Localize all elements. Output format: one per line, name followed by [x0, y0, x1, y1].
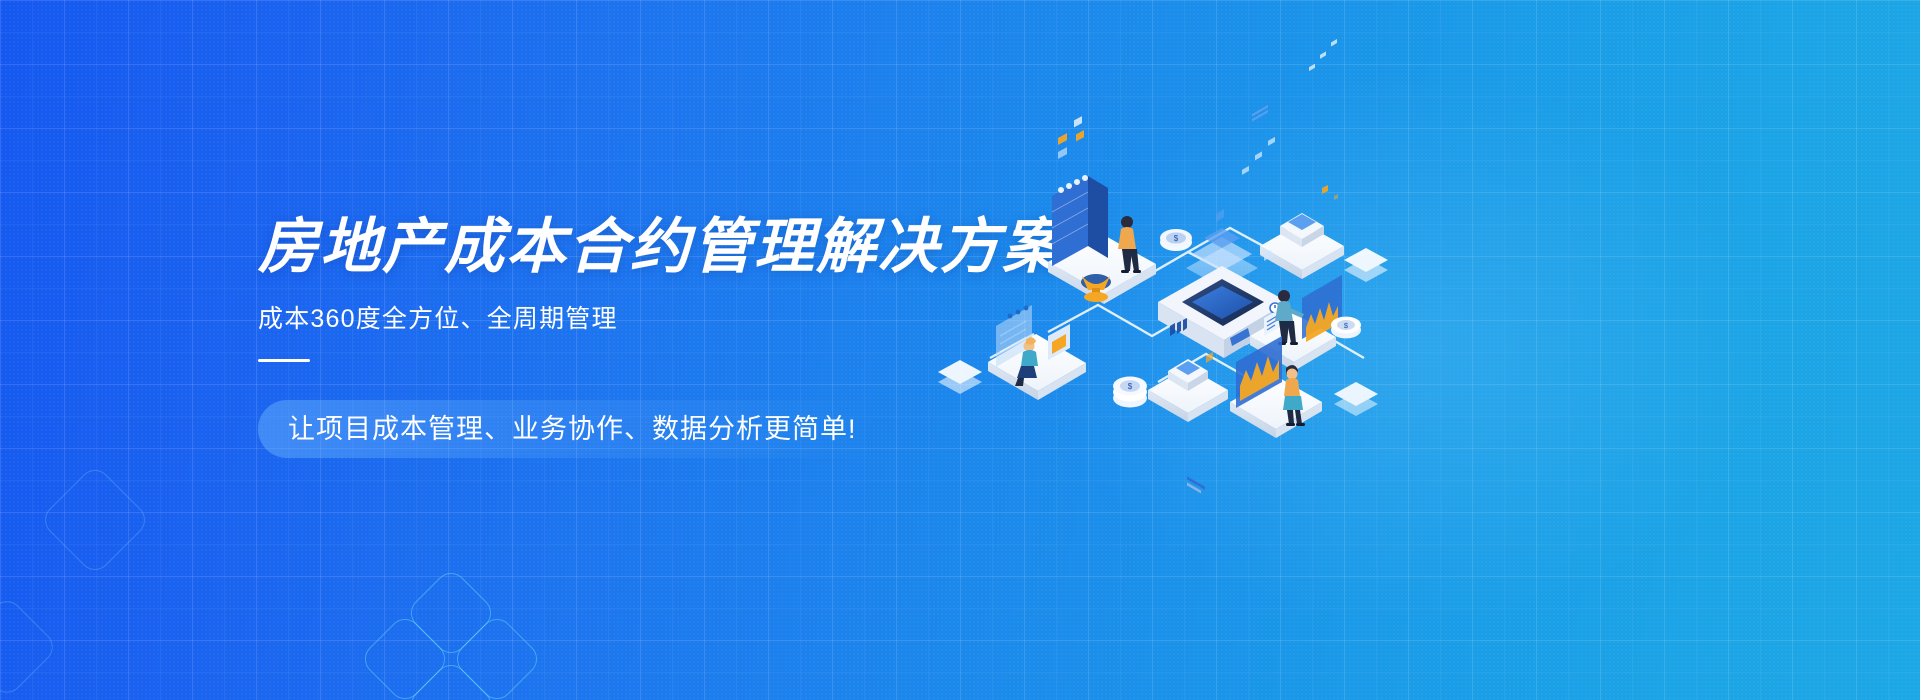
calendar-board — [1052, 116, 1108, 266]
decor-diamond-edge — [0, 595, 59, 700]
decor-diamond-top — [404, 566, 497, 659]
decor-diamond-left — [358, 612, 451, 700]
isometric-illustration: $ — [930, 150, 1400, 430]
title-divider — [258, 359, 310, 362]
decor-diamond-right — [450, 612, 543, 700]
decor-diamond-single — [38, 463, 151, 576]
coin-stack-upper: $ — [1160, 229, 1192, 251]
coin-stack-right: $ — [1331, 317, 1361, 339]
floating-layer-plates-right — [1344, 248, 1388, 282]
hero-copy: 房地产成本合约管理解决方案 成本360度全方位、全周期管理 让项目成本管理、业务… — [258, 215, 1018, 458]
floating-layer-plates-bottom — [1334, 382, 1378, 416]
central-server-hub — [1158, 105, 1288, 494]
coin-stack-lower: $ — [1113, 377, 1147, 408]
decor-diamond-bottom — [404, 658, 497, 700]
svg-text:$: $ — [1174, 234, 1179, 243]
hero-banner: 房地产成本合约管理解决方案 成本360度全方位、全周期管理 让项目成本管理、业务… — [0, 0, 1920, 700]
platform-pod-upper-right — [1260, 185, 1344, 279]
platform-calendar — [1048, 116, 1156, 304]
tagline-pill: 让项目成本管理、业务协作、数据分析更简单! — [258, 400, 887, 458]
svg-text:$: $ — [1128, 382, 1133, 391]
page-subtitle: 成本360度全方位、全周期管理 — [258, 304, 1018, 334]
platform-pod-lower-centre — [1148, 359, 1228, 422]
page-title: 房地产成本合约管理解决方案 — [258, 215, 1018, 280]
floating-layer-plates-left — [938, 360, 982, 394]
